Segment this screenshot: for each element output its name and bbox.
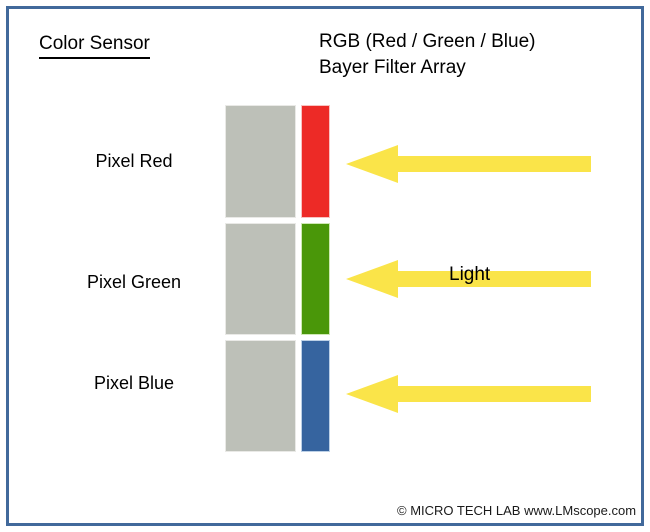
light-arrow-blue [346, 373, 591, 415]
pixel-row-label-red: Pixel Red [49, 151, 219, 172]
diagram-frame: Color Sensor RGB (Red / Green / Blue) Ba… [6, 6, 644, 526]
rgb-heading: RGB (Red / Green / Blue) Bayer Filter Ar… [319, 29, 535, 81]
color-filter-strip-red [301, 105, 330, 218]
pixel-row-label-green: Pixel Green [49, 272, 219, 293]
pixel-cell-green [225, 223, 296, 335]
color-filter-strip-blue [301, 340, 330, 452]
light-arrow-red [346, 143, 591, 185]
color-filter-strip-green [301, 223, 330, 335]
pixel-cell-blue [225, 340, 296, 452]
copyright-footer: © MICRO TECH LAB www.LMscope.com [397, 503, 636, 518]
left-arrow-icon [346, 143, 591, 185]
light-label: Light [449, 264, 490, 286]
rgb-heading-line-2: Bayer Filter Array [319, 55, 535, 81]
pixel-cell-red [225, 105, 296, 218]
pixel-row-label-blue: Pixel Blue [49, 373, 219, 394]
page-title: Color Sensor [39, 33, 150, 59]
left-arrow-icon [346, 373, 591, 415]
diagram-canvas: Color Sensor RGB (Red / Green / Blue) Ba… [0, 0, 650, 532]
rgb-heading-line-1: RGB (Red / Green / Blue) [319, 29, 535, 55]
